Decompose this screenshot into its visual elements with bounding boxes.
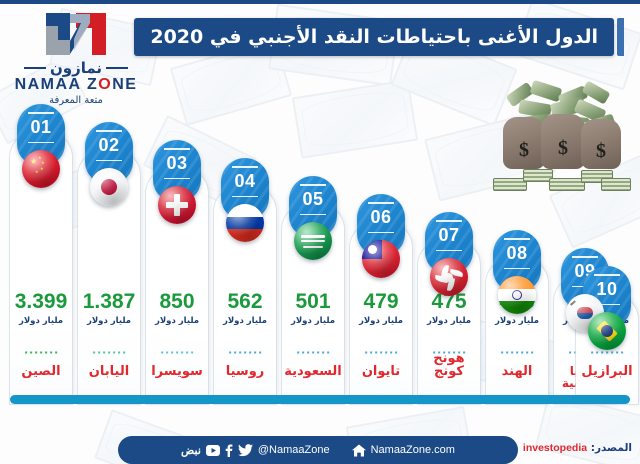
bar-country-name: الهند [486, 365, 548, 378]
bar-column-03[interactable]: 03 850 مليار دولار سويسرا [146, 104, 208, 404]
logo-english-accent: O [98, 76, 112, 93]
bar-unit: مليار دولار [486, 316, 548, 326]
bar-unit: مليار دولار [10, 316, 72, 326]
bar-value: 562 [214, 291, 276, 312]
title-banner: الدول الأغنى باحتياطات النقد الأجنبي في … [134, 18, 624, 56]
logo-english-name: NAMAA ZONE [14, 76, 138, 94]
flag-taiwan-icon [362, 240, 400, 278]
rank-number: 03 [153, 153, 201, 174]
bar-value: 501 [282, 291, 344, 312]
website-group[interactable]: NamaaZone.com [352, 444, 455, 457]
bar-unit: مليار دولار [146, 316, 208, 326]
bar-dot-divider [296, 351, 331, 354]
header: نمازون NAMAA ZONE متعة المعرفة الدول الأ… [0, 4, 640, 104]
bar-column-05[interactable]: 05 501 مليار دولار السعودية [282, 104, 344, 404]
flag-switzerland-icon [158, 186, 196, 224]
namaa-zone-logo-mark-icon [40, 10, 112, 58]
bar-column-02[interactable]: 02 1.387 مليار دولار اليابان [78, 104, 140, 404]
logo-english-part2: NE [112, 76, 137, 93]
facebook-icon[interactable] [225, 444, 233, 457]
flag-brazil-icon [588, 312, 626, 350]
bar-unit: مليار دولار [418, 316, 480, 326]
bar-country-name: سويسرا [146, 365, 208, 378]
source-credit: المصدر: investopedia [523, 442, 632, 454]
bar-country-name: تايوان [350, 365, 412, 378]
bar-country-name: البرازيل [576, 365, 638, 378]
flag-china-icon: ★ ★ ★ ★ ★ [22, 150, 60, 188]
nabd-label[interactable]: نبض [181, 444, 201, 457]
infographic-canvas: نمازون NAMAA ZONE متعة المعرفة الدول الأ… [0, 0, 640, 464]
footer-pill: نبض @NamaaZone NamaaZone.com [118, 436, 518, 464]
bar-unit: مليار دولار [78, 316, 140, 326]
rank-number: 02 [85, 135, 133, 156]
flag-india-icon [498, 276, 536, 314]
website-url[interactable]: NamaaZone.com [371, 444, 455, 456]
logo-arabic-name: نمازون [50, 59, 102, 77]
bar-column-04[interactable]: 04 562 مليار دولار روسيا [214, 104, 276, 404]
bar-country-name: هونح كونج [418, 352, 480, 379]
rank-number: 01 [17, 117, 65, 138]
flag-japan-icon [90, 168, 128, 206]
bar-dot-divider [500, 351, 535, 354]
twitter-icon[interactable] [238, 444, 253, 457]
bar-column-06[interactable]: 06 479 مليار دولار تايوان [350, 104, 412, 404]
bar-country-name: اليابان [78, 365, 140, 378]
bar-column-07[interactable]: 07 475 مليار دولار هونح كونج [418, 104, 480, 404]
footer: نبض @NamaaZone NamaaZone.com [0, 404, 640, 464]
home-icon [352, 444, 366, 457]
rank-number: 05 [289, 189, 337, 210]
bar-country-name: الصين [10, 365, 72, 378]
title-accent-stripe [617, 18, 624, 56]
bar-dot-divider [92, 351, 127, 354]
bar-dot-divider [364, 351, 399, 354]
youtube-icon[interactable] [206, 445, 220, 456]
page-title: الدول الأغنى باحتياطات النقد الأجنبي في … [134, 18, 614, 56]
flag-hong-kong-icon [430, 258, 468, 296]
brand-logo[interactable]: نمازون NAMAA ZONE متعة المعرفة [14, 10, 138, 106]
flag-saudi-arabia-icon [294, 222, 332, 260]
bar-country-name: السعودية [282, 365, 344, 378]
bar-value: 3.399 [10, 291, 72, 312]
bar-unit: مليار دولار [214, 316, 276, 326]
flag-russia-icon [226, 204, 264, 242]
rank-number: 06 [357, 207, 405, 228]
bar-unit: مليار دولار [350, 316, 412, 326]
bar-country-name: روسيا [214, 365, 276, 378]
bar-column-01[interactable]: 01 ★ ★ ★ ★ ★ 3.399 مليار دولار الصين [10, 104, 72, 404]
bar-value: 1.387 [78, 291, 140, 312]
rank-number: 04 [221, 171, 269, 192]
bar-value: 850 [146, 291, 208, 312]
source-label: المصدر: [591, 442, 632, 454]
rank-number: 08 [493, 243, 541, 264]
social-handle[interactable]: @NamaaZone [258, 444, 330, 456]
bar-value: 479 [350, 291, 412, 312]
ranking-chart: 01 ★ ★ ★ ★ ★ 3.399 مليار دولار الصين 02 [0, 104, 640, 404]
bar-dot-divider [24, 351, 59, 354]
chart-baseline [10, 395, 630, 404]
logo-english-part1: NAMAA Z [15, 76, 99, 93]
social-group[interactable]: نبض @NamaaZone [181, 444, 330, 457]
source-value: investopedia [523, 442, 587, 454]
bar-dot-divider [590, 351, 625, 354]
bar-unit: مليار دولار [282, 316, 344, 326]
logo-divider: نمازون [14, 58, 138, 77]
bar-dot-divider [228, 351, 263, 354]
bar-column-08[interactable]: 08 473 مليار دولار الهند [486, 104, 548, 404]
bar-dot-divider [160, 351, 195, 354]
rank-number: 07 [425, 225, 473, 246]
